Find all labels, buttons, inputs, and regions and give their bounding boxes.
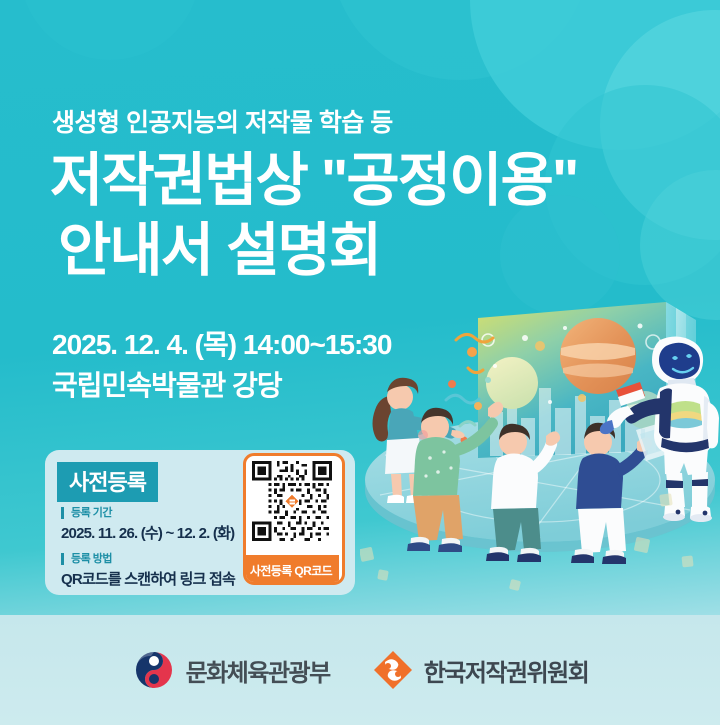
registration-period-value: 2025. 11. 26. (수) ~ 12. 2. (화) [61,522,234,543]
footer-logos: 문화체육관광부 한국저작권위원회 [0,615,720,725]
background-blob [20,0,200,60]
logo-mcst: 문화체육관광부 [132,648,330,692]
poster-canvas: 생성형 인공지능의 저작물 학습 등 저작권법상 "공정이용" 안내서 설명회 … [0,0,720,725]
background-blob [470,0,720,150]
logo-kcc-label: 한국저작권위원회 [424,653,589,688]
poster-subtitle: 생성형 인공지능의 저작물 학습 등 [52,103,393,139]
qr-caption: 사전등록 QR코드 [243,555,339,585]
logo-kcc: 한국저작권위원회 [372,649,589,691]
planet-icon [560,318,636,394]
registration-method-label: 등록 방법 [61,553,235,565]
event-venue: 국립민속박물관 강당 [52,364,282,404]
registration-period-label: 등록 기간 [61,507,234,519]
logo-mcst-label: 문화체육관광부 [186,653,330,688]
registration-method-row: 등록 방법 QR코드를 스캔하여 링크 접속 [61,553,235,589]
registration-period-row: 등록 기간 2025. 11. 26. (수) ~ 12. 2. (화) [61,507,234,543]
registration-method-value: QR코드를 스캔하여 링크 접속 [61,568,235,589]
qr-code-icon[interactable] [252,461,332,541]
background-blob [600,10,720,240]
poster-title-line2: 안내서 설명회 [58,222,380,280]
registration-qr-card[interactable]: 사전등록 QR코드 [243,453,345,585]
poster-title-line1: 저작권법상 "공정이용" [50,152,577,210]
registration-heading: 사전등록 [57,462,158,502]
taegeuk-logo-icon [132,648,176,692]
event-datetime: 2025. 12. 4. (목) 14:00~15:30 [52,323,391,363]
background-blob [330,0,590,80]
event-illustration [360,280,720,610]
kcc-diamond-logo-icon [372,649,414,691]
